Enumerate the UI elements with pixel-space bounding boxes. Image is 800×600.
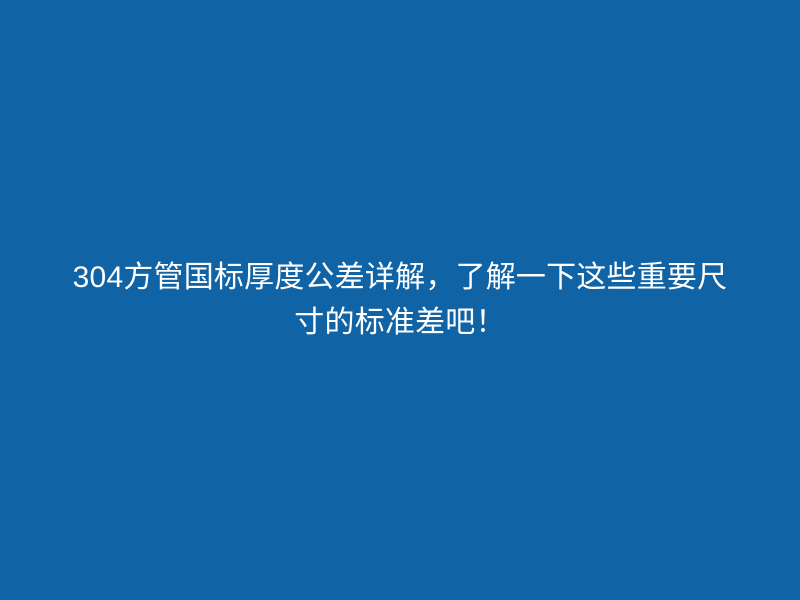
page-title: 304方管国标厚度公差详解，了解一下这些重要尺寸的标准差吧！	[59, 255, 741, 345]
headline-block: 304方管国标厚度公差详解，了解一下这些重要尺寸的标准差吧！	[55, 255, 745, 345]
banner-canvas: 304方管国标厚度公差详解，了解一下这些重要尺寸的标准差吧！	[0, 0, 800, 600]
